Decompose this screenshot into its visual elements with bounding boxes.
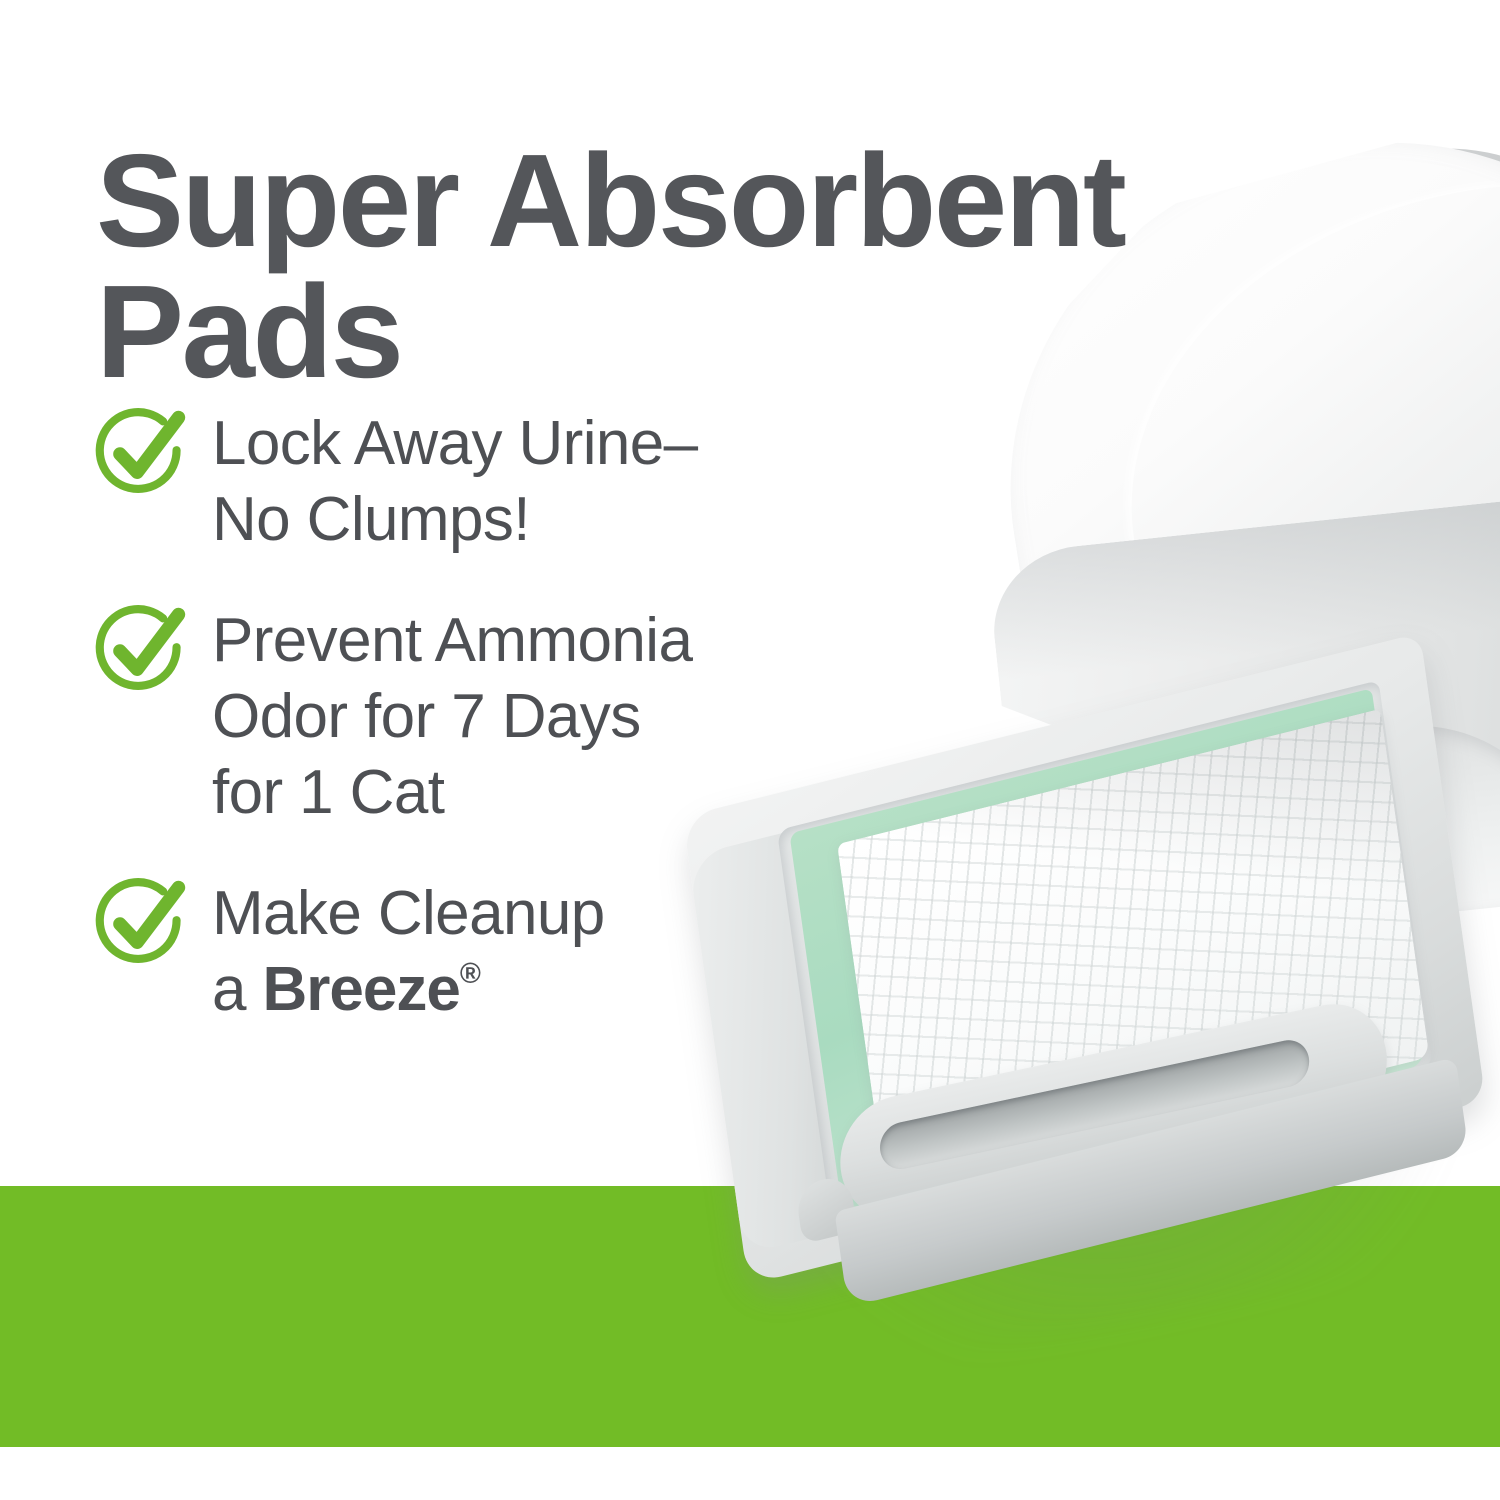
benefit-line: for 1 Cat — [212, 755, 692, 831]
check-circle-icon — [94, 603, 190, 699]
benefit-line: Odor for 7 Days — [212, 679, 692, 755]
benefit-item-make-cleanup-a-breeze: Make Cleanup a Breeze® — [94, 874, 924, 1027]
benefit-item-prevent-ammonia-odor: Prevent Ammonia Odor for 7 Days for 1 Ca… — [94, 601, 924, 830]
benefit-line: Lock Away Urine– — [212, 406, 698, 482]
benefit-item-lock-away-urine: Lock Away Urine– No Clumps! — [94, 404, 924, 557]
check-circle-icon — [94, 876, 190, 972]
headline: Super Absorbent Pads — [96, 136, 1396, 397]
check-circle-icon — [94, 406, 190, 502]
benefit-text: Make Cleanup a Breeze® — [212, 874, 605, 1027]
brand-name-breeze: Breeze — [263, 955, 460, 1024]
benefit-line: Make Cleanup — [212, 876, 605, 952]
benefit-text: Lock Away Urine– No Clumps! — [212, 404, 698, 557]
product-marketing-image: Super Absorbent Pads Lock Away Urine– No… — [0, 0, 1500, 1500]
benefit-list: Lock Away Urine– No Clumps! Prevent Ammo… — [94, 404, 924, 1027]
headline-line-2: Pads — [96, 267, 1396, 398]
benefit-text: Prevent Ammonia Odor for 7 Days for 1 Ca… — [212, 601, 692, 830]
benefit-line-brand: a Breeze® — [212, 952, 605, 1028]
headline-line-1: Super Absorbent — [96, 136, 1396, 267]
benefit-line: No Clumps! — [212, 482, 698, 558]
benefit-line: Prevent Ammonia — [212, 603, 692, 679]
registered-trademark-icon: ® — [460, 958, 481, 990]
brand-prefix: a — [212, 955, 263, 1024]
